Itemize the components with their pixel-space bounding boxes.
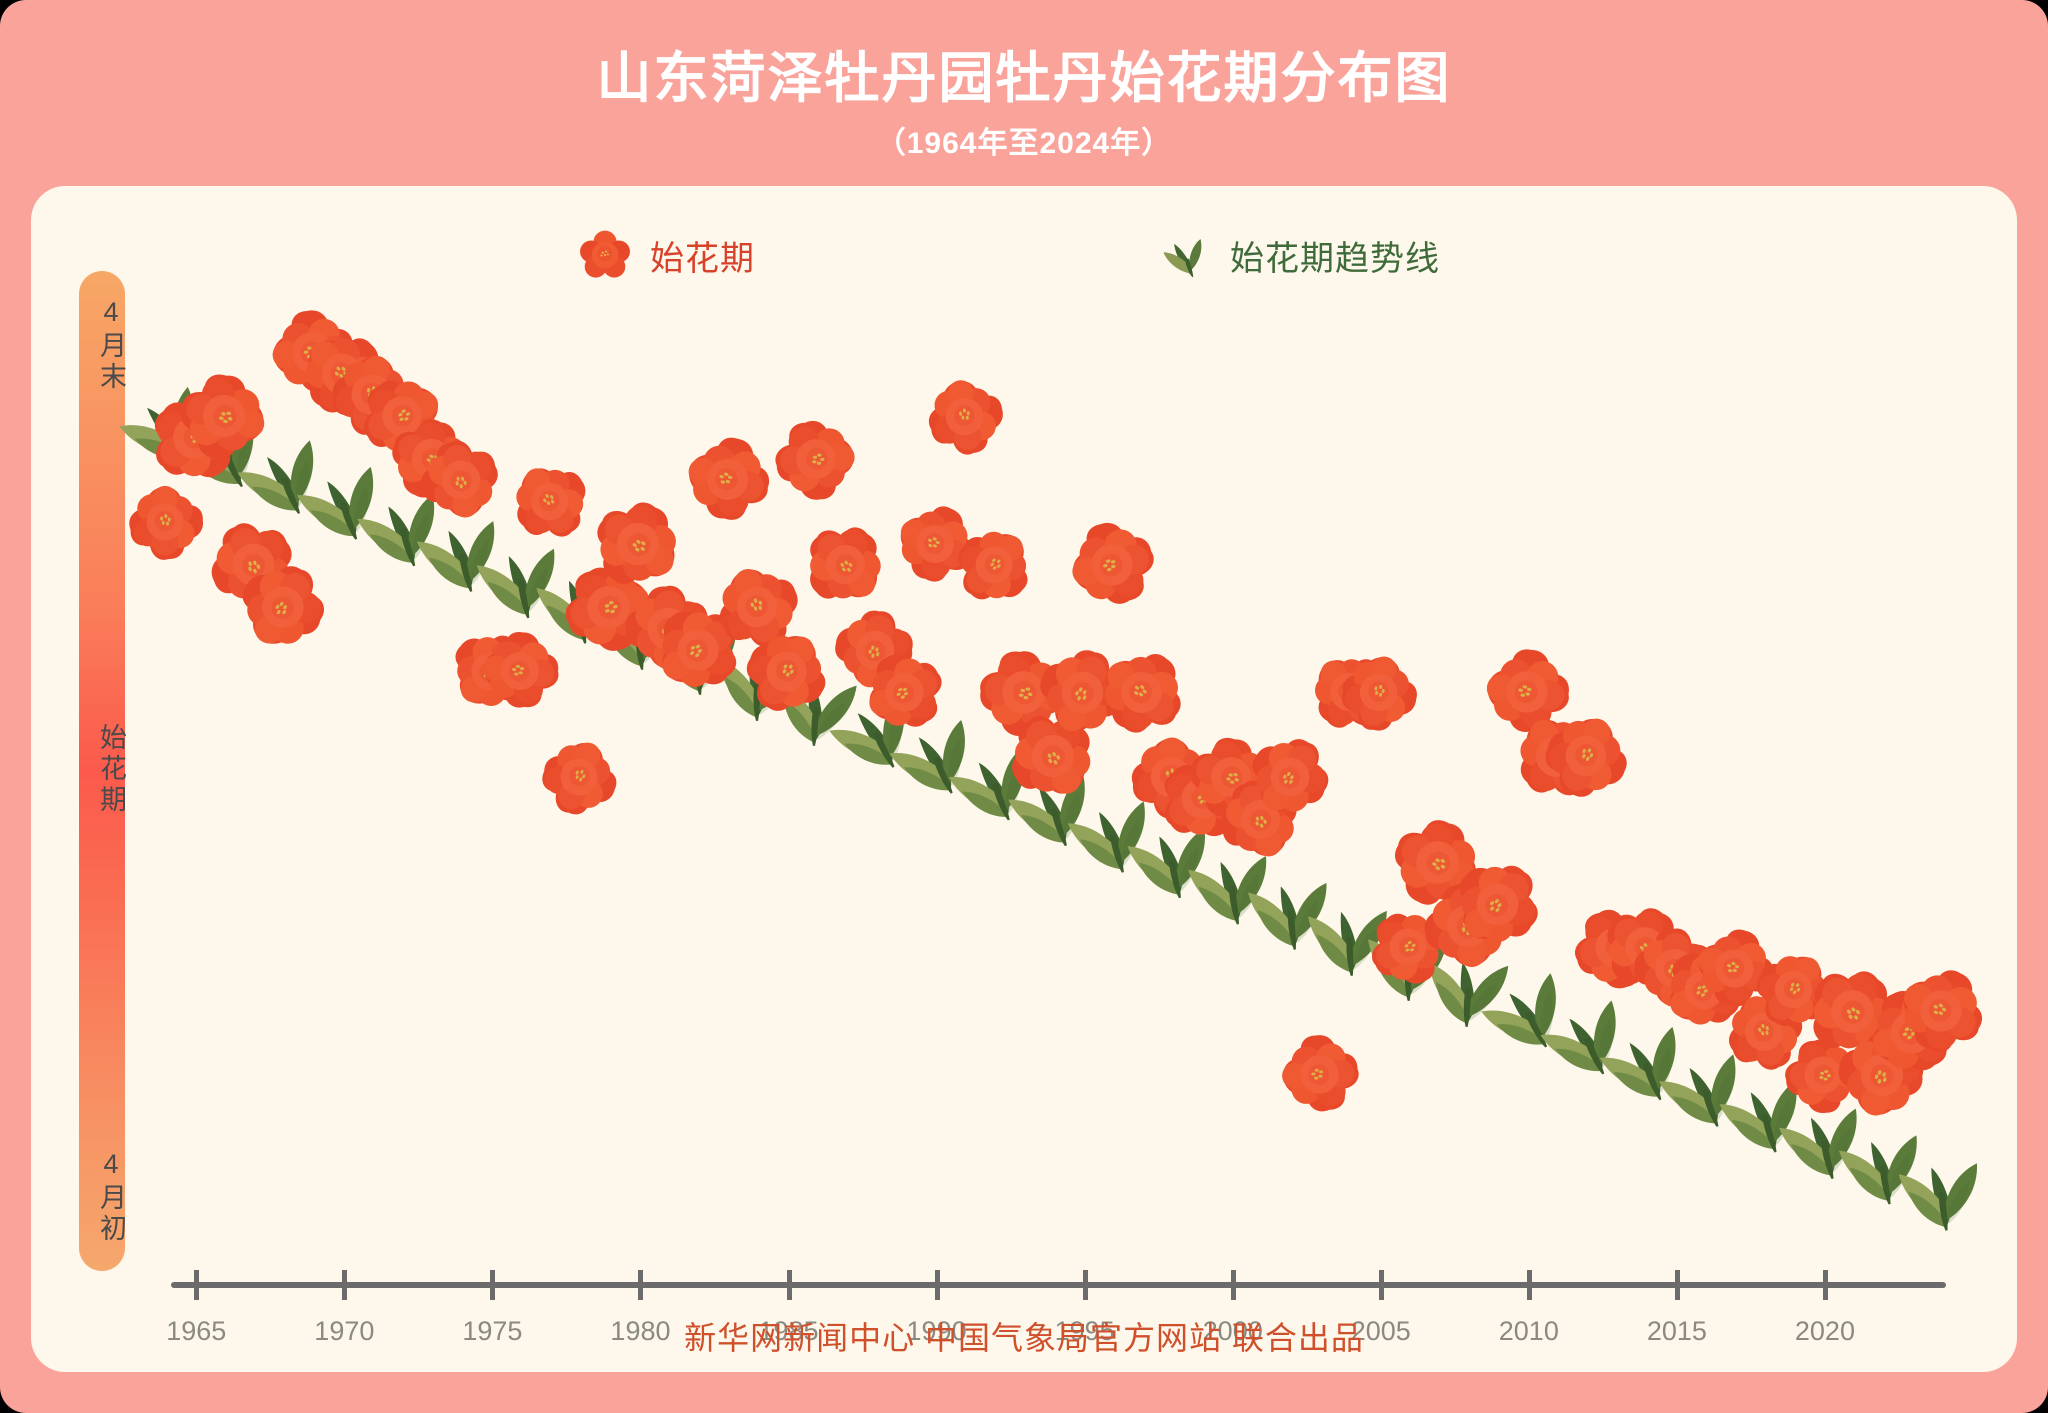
data-point-flower[interactable]: [537, 735, 621, 819]
footer-credit: 新华网新闻中心 中国气象局官方网站 联合出品: [0, 1313, 2048, 1359]
poster-header: 山东菏泽牡丹园牡丹始花期分布图 （1964年至2024年）: [0, 0, 2048, 186]
data-point-flower[interactable]: [176, 368, 272, 464]
data-point-flower[interactable]: [236, 560, 330, 654]
data-point-flower[interactable]: [1450, 857, 1545, 952]
data-point-flower[interactable]: [417, 436, 505, 524]
x-axis-tick: [638, 1270, 643, 1300]
x-axis-tick: [935, 1270, 940, 1300]
data-point-flower[interactable]: [741, 626, 832, 717]
x-axis-tick: [194, 1270, 199, 1300]
data-point-flower[interactable]: [952, 523, 1036, 607]
data-point-flower[interactable]: [1276, 1031, 1363, 1118]
data-point-flower[interactable]: [1540, 710, 1632, 802]
x-axis-tick: [1823, 1270, 1828, 1300]
data-point-flower[interactable]: [1095, 646, 1188, 739]
data-point-flower[interactable]: [922, 374, 1007, 459]
x-axis-tick: [1675, 1270, 1680, 1300]
x-axis-tick: [1231, 1270, 1236, 1300]
data-point-flower[interactable]: [507, 459, 592, 544]
data-point-flower[interactable]: [681, 433, 774, 526]
data-point-flower[interactable]: [477, 628, 563, 714]
data-point-flower[interactable]: [801, 520, 890, 609]
page-subtitle: （1964年至2024年）: [0, 118, 2048, 162]
x-axis-tick: [787, 1270, 792, 1300]
scatter-plot-area: [141, 246, 1971, 1266]
x-axis-tick: [1379, 1270, 1384, 1300]
chart-card: 始花期 始花期趋势线 4月末 始花期: [31, 186, 2017, 1372]
trend-leaf-marker: [1889, 1129, 1993, 1233]
x-axis-tick: [1527, 1270, 1532, 1300]
data-point-flower[interactable]: [861, 649, 948, 736]
data-point-flower[interactable]: [123, 480, 207, 564]
data-point-flower[interactable]: [590, 496, 686, 592]
page-title: 山东菏泽牡丹园牡丹始花期分布图: [0, 33, 2048, 113]
x-axis-tick: [1083, 1270, 1088, 1300]
data-point-flower[interactable]: [771, 414, 861, 504]
plot-markers-layer: [141, 246, 1971, 1266]
y-axis-title: 始花期: [79, 723, 125, 816]
data-point-flower[interactable]: [1065, 518, 1159, 612]
data-point-flower[interactable]: [1336, 650, 1421, 735]
y-axis-bottom-label: 4月初: [79, 1149, 125, 1245]
x-axis-tick: [490, 1270, 495, 1300]
x-axis-tick: [342, 1270, 347, 1300]
data-point-flower[interactable]: [1246, 733, 1334, 821]
data-point-flower[interactable]: [1894, 964, 1988, 1058]
infographic-poster: 山东菏泽牡丹园牡丹始花期分布图 （1964年至2024年）: [0, 0, 2048, 1413]
